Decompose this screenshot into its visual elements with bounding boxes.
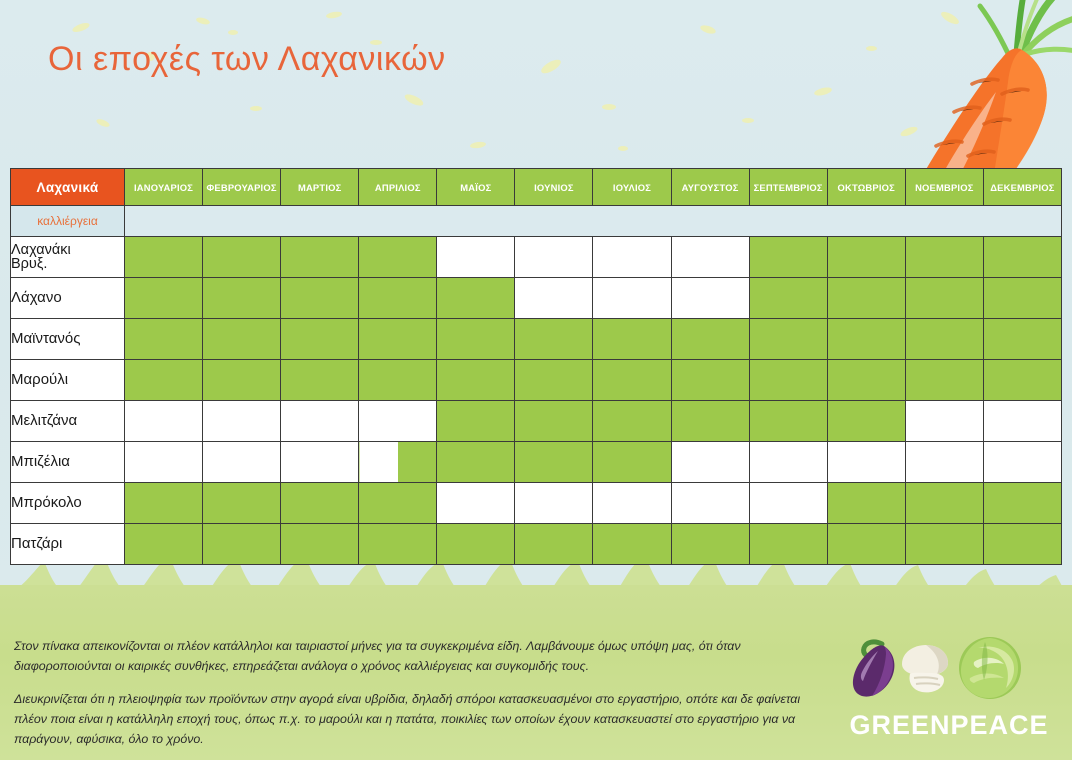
header-month-11: ΝΟΕΜΒΡΙΟΣ [905,169,983,206]
season-cell [671,442,749,483]
season-cell [281,483,359,524]
header-month-8: ΑΥΓΟΥΣΤΟΣ [671,169,749,206]
speck-decor [742,118,754,123]
season-cell [905,483,983,524]
season-cell [515,524,593,565]
greenpeace-wordmark: GREENPEACE [838,710,1060,741]
season-cell [515,483,593,524]
season-cell [281,278,359,319]
season-cell [125,278,203,319]
vegetable-name: Μαϊντανός [11,319,125,360]
season-cell [671,401,749,442]
season-cell [437,483,515,524]
season-cell [281,442,359,483]
season-cell [125,237,203,278]
season-cell [749,278,827,319]
poster-root: Οι εποχές των Λαχανικών Λαχανικά ΙΑΝΟΥΑΡ… [0,0,1072,760]
season-cell [671,360,749,401]
vegetable-name: Μπιζέλια [11,442,125,483]
season-cell [671,524,749,565]
header-month-1: ΙΑΝΟΥΑΡΙΟΣ [125,169,203,206]
vegetable-name: Λάχανο [11,278,125,319]
table-row: Μαϊντανός [11,319,1062,360]
season-cell [593,442,671,483]
season-cell [827,278,905,319]
table-row: Μπιζέλια [11,442,1062,483]
season-cell [671,319,749,360]
speck-decor [228,30,238,35]
season-cell [281,237,359,278]
season-cell [359,319,437,360]
season-cell [203,401,281,442]
season-cell [281,360,359,401]
season-cell [827,401,905,442]
season-cell [749,319,827,360]
table-row: Μπρόκολο [11,483,1062,524]
season-cell [125,442,203,483]
season-cell [905,524,983,565]
season-cell [359,524,437,565]
season-cell [515,237,593,278]
season-cell [593,401,671,442]
vegetable-name: Μελιτζάνα [11,401,125,442]
season-cell [359,360,437,401]
season-cell [203,360,281,401]
season-cell [203,319,281,360]
eggplant-icon [853,642,894,697]
season-cell [281,524,359,565]
season-cell [905,278,983,319]
season-cell [905,401,983,442]
table-row: Μαρούλι [11,360,1062,401]
season-cell [827,483,905,524]
lettuce-icon [959,637,1021,699]
table-subheader-row: καλλιέργεια [11,206,1062,237]
season-cell [593,360,671,401]
vegetable-name: Πατζάρι [11,524,125,565]
season-cell [983,524,1061,565]
season-cell [593,483,671,524]
season-cell [125,401,203,442]
season-cell [437,360,515,401]
header-vegetables: Λαχανικά [11,169,125,206]
season-cell [125,319,203,360]
season-cell [125,483,203,524]
season-cell [515,360,593,401]
season-cell [671,237,749,278]
season-cell [359,401,437,442]
season-cell [515,401,593,442]
table-row: Πατζάρι [11,524,1062,565]
season-cell [359,442,437,483]
season-cell [749,360,827,401]
season-cell [671,483,749,524]
season-cell [593,237,671,278]
season-cell [359,278,437,319]
season-cell [749,442,827,483]
header-month-12: ΔΕΚΕΜΒΡΙΟΣ [983,169,1061,206]
header-month-9: ΣΕΠΤΕΜΒΡΙΟΣ [749,169,827,206]
season-cell [203,524,281,565]
page-title: Οι εποχές των Λαχανικών [48,40,446,79]
season-cell [749,524,827,565]
vegetable-name: Μαρούλι [11,360,125,401]
season-cell [515,278,593,319]
season-cell [281,319,359,360]
season-cell [203,483,281,524]
table-row: ΛαχανάκιΒρυξ. [11,237,1062,278]
season-cell [749,483,827,524]
season-cell [203,237,281,278]
season-cell [515,442,593,483]
season-cell [203,442,281,483]
season-cell [593,319,671,360]
speck-decor [618,146,628,151]
header-month-6: ΙΟΥΝΙΟΣ [515,169,593,206]
speck-decor [866,46,877,51]
season-cell [125,360,203,401]
season-cell [905,319,983,360]
speck-decor [602,104,616,110]
season-cell [827,524,905,565]
season-cell [125,524,203,565]
season-cell [437,278,515,319]
header-month-2: ΦΕΒΡΟΥΑΡΙΟΣ [203,169,281,206]
season-cell [749,401,827,442]
season-cell [827,319,905,360]
header-month-5: ΜΑΪΟΣ [437,169,515,206]
vegetable-name: Μπρόκολο [11,483,125,524]
seasonality-table: Λαχανικά ΙΑΝΟΥΑΡΙΟΣ ΦΕΒΡΟΥΑΡΙΟΣ ΜΑΡΤΙΟΣ … [10,168,1062,565]
speck-decor [250,106,262,111]
vegetable-name: ΛαχανάκιΒρυξ. [11,237,125,278]
season-cell [905,442,983,483]
season-cell [983,360,1061,401]
table-row: Λάχανο [11,278,1062,319]
season-cell [437,237,515,278]
greenpeace-logo: GREENPEACE [838,628,1060,748]
season-cell [437,401,515,442]
season-cell [983,401,1061,442]
subheader-blank [125,206,1062,237]
season-cell [983,483,1061,524]
season-cell [827,237,905,278]
season-cell [827,360,905,401]
season-cell [905,360,983,401]
mushroom-icon [902,645,948,692]
season-cell [827,442,905,483]
season-cell [749,237,827,278]
season-cell [983,278,1061,319]
season-cell [983,237,1061,278]
season-cell [593,524,671,565]
footer-paragraph-2: Διευκρινίζεται ότι η πλειοψηφία των προϊ… [14,689,804,749]
season-cell [203,278,281,319]
header-month-4: ΑΠΡΙΛΙΟΣ [359,169,437,206]
header-month-7: ΙΟΥΛΙΟΣ [593,169,671,206]
season-cell [983,442,1061,483]
season-cell [515,319,593,360]
season-cell [593,278,671,319]
season-cell [437,442,515,483]
table-body: καλλιέργεια ΛαχανάκιΒρυξ.ΛάχανοΜαϊντανός… [11,206,1062,565]
season-cell [359,237,437,278]
season-cell [281,401,359,442]
season-cell [437,524,515,565]
footer-paragraph-1: Στον πίνακα απεικονίζονται οι πλέον κατά… [14,636,804,676]
season-cell [671,278,749,319]
season-cell [905,237,983,278]
season-cell [359,483,437,524]
season-cell [983,319,1061,360]
table-header-row: Λαχανικά ΙΑΝΟΥΑΡΙΟΣ ΦΕΒΡΟΥΑΡΙΟΣ ΜΑΡΤΙΟΣ … [11,169,1062,206]
footer-note: Στον πίνακα απεικονίζονται οι πλέον κατά… [14,636,804,760]
header-month-10: ΟΚΤΩΒΡΙΟΣ [827,169,905,206]
table-row: Μελιτζάνα [11,401,1062,442]
season-cell [437,319,515,360]
header-month-3: ΜΑΡΤΙΟΣ [281,169,359,206]
subheader-cultivation: καλλιέργεια [11,206,125,237]
